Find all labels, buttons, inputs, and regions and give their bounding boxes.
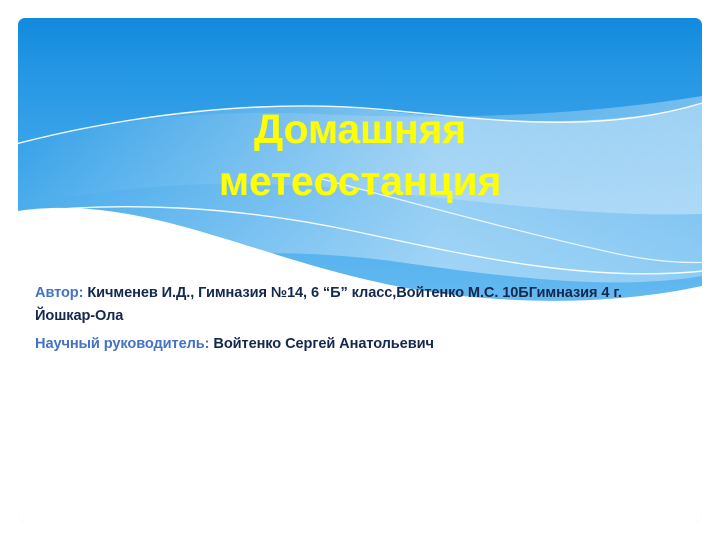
author-value: Кичменев И.Д., Гимназия №14, 6 “Б” класс… <box>35 285 622 324</box>
slide-canvas: Домашняя метеостанция Автор: Кичменев И.… <box>18 18 702 522</box>
supervisor-label: Научный руководитель: <box>35 336 209 352</box>
title-line-2: метеостанция <box>48 155 672 207</box>
slide-title: Домашняя метеостанция <box>48 103 672 207</box>
wave-decoration <box>18 18 702 522</box>
supervisor-paragraph: Научный руководитель: Войтенко Сергей Ан… <box>35 333 685 356</box>
title-line-1: Домашняя <box>48 103 672 155</box>
author-label: Автор: <box>35 285 83 301</box>
supervisor-value: Войтенко Сергей Анатольевич <box>213 336 433 352</box>
slide-root: Домашняя метеостанция Автор: Кичменев И.… <box>0 0 720 540</box>
slide-subtitle-block: Автор: Кичменев И.Д., Гимназия №14, 6 “Б… <box>35 282 685 357</box>
author-paragraph: Автор: Кичменев И.Д., Гимназия №14, 6 “Б… <box>35 282 685 328</box>
